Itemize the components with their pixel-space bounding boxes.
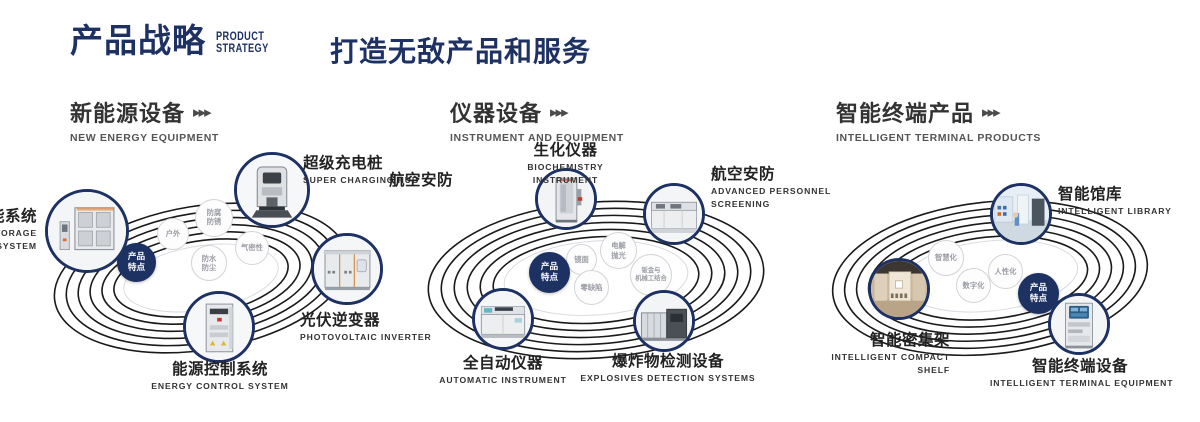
section-heading-new-energy: 新能源设备▸▸▸ NEW ENERGY EQUIPMENT [70,96,219,144]
product-circle-energy-storage[interactable] [45,189,129,273]
feature-bubble: 数字化 [956,268,991,303]
feature-bubble: 气密性 [235,231,269,265]
section-heading-en: NEW ENERGY EQUIPMENT [70,132,219,144]
product-circle-explosives-detector[interactable] [633,290,695,352]
feature-bubble: 防水防尘 [191,245,227,281]
chevron-right-icon: ▸▸▸ [982,103,999,121]
product-circle-inverter[interactable] [311,233,383,305]
product-strategy-infographic: 产品战略 PRODUCT STRATEGY 打造无敌产品和服务 新能源设备▸▸▸… [0,0,1200,422]
feature-bubble: 电解抛光 [600,232,637,269]
product-label-energy-storage: 储能系统 ENERGY STORAGE SYSTEM [0,208,37,251]
feature-bubble: 人性化 [988,254,1023,289]
feature-bubble: 零缺陷 [574,270,609,305]
section-heading-instrument: 仪器设备▸▸▸ INSTRUMENT AND EQUIPMENT [450,96,624,144]
product-label-biochemistry: 生化仪器 BIOCHEMISTRY INSTRUMENT [498,142,633,185]
product-label-control-system: 能源控制系统 ENERGY CONTROL SYSTEM [115,361,325,392]
feature-bubble: 户外 [157,218,189,250]
section-heading-cn: 新能源设备 [70,96,185,128]
product-label-explosives-detector: 爆炸物检测设备 EXPLOSIVES DETECTION SYSTEMS [573,353,763,384]
product-label-aviation-security-left: 航空安防 [343,172,453,190]
chevron-right-icon: ▸▸▸ [550,103,567,121]
product-label-kiosk: 智能终端设备 INTELLIGENT TERMINAL EQUIPMENT [990,358,1170,389]
cluster-intelligent-terminal: 智慧化 数字化 人性化 产品特点 智能馆库 INTELLIGENT LIBRAR… [800,150,1200,400]
product-circle-kiosk[interactable] [1048,293,1110,355]
feature-bubble: 智慧化 [928,240,964,276]
page-title-cn: 产品战略 [70,24,206,57]
product-circle-library[interactable] [990,183,1052,245]
cluster-instrument: 镜面 电解抛光 零缺陷 钣金与机械工结合 产品特点 航空安防 生化仪器 BIOC [398,150,798,400]
product-label-automatic-instrument: 全自动仪器 AUTOMATIC INSTRUMENT [418,355,588,386]
page-title-en-line2: STRATEGY [216,43,269,55]
product-circle-control-system[interactable] [183,291,255,363]
page-title-en-line1: PRODUCT [216,31,269,43]
product-circle-automatic-instrument[interactable] [472,288,534,350]
section-heading-cn: 仪器设备 [450,96,542,128]
product-circle-charging-pile[interactable] [234,152,310,228]
product-label-library: 智能馆库 INTELLIGENT LIBRARY [1058,186,1172,217]
page-title: 产品战略 PRODUCT STRATEGY [70,24,282,57]
page-title-en: PRODUCT STRATEGY [216,31,269,55]
page-subtitle: 打造无敌产品和服务 [330,30,591,70]
product-circle-screening[interactable] [643,183,705,245]
core-bubble: 产品特点 [529,252,570,293]
section-heading-en: INTELLIGENT TERMINAL PRODUCTS [836,132,1041,144]
chevron-right-icon: ▸▸▸ [193,103,210,121]
product-label-compact-shelf: 智能密集架 INTELLIGENT COMPACT SHELF [790,332,950,375]
feature-bubble: 防腐防锈 [195,199,233,237]
product-circle-compact-shelf[interactable] [868,258,930,320]
section-heading-cn: 智能终端产品 [836,96,974,128]
section-heading-intelligent-terminal: 智能终端产品▸▸▸ INTELLIGENT TERMINAL PRODUCTS [836,96,1041,144]
